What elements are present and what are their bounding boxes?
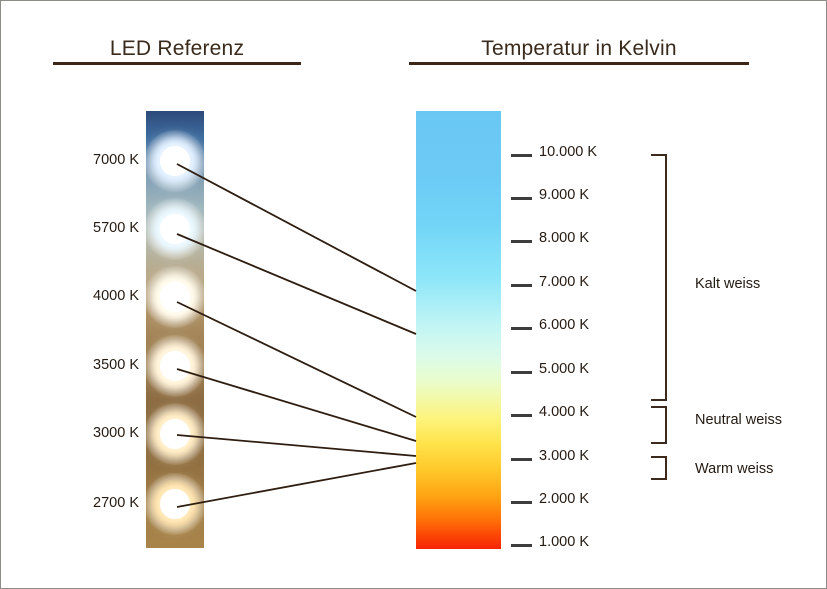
- scale-tick: [511, 371, 532, 374]
- led-core: [160, 489, 190, 519]
- led-core: [160, 351, 190, 381]
- led-lamp: [146, 266, 204, 328]
- scale-tick-label: 6.000 K: [539, 317, 589, 333]
- page-title-kelvin: Temperatur in Kelvin: [409, 37, 749, 61]
- led-core: [160, 419, 190, 449]
- connector-line: [177, 164, 416, 291]
- scale-tick-label: 7.000 K: [539, 274, 589, 290]
- title-underline-kelvin: [409, 62, 749, 65]
- led-lamp: [146, 198, 204, 260]
- scale-tick: [511, 154, 532, 157]
- category-bracket: [651, 154, 667, 401]
- connector-line: [177, 234, 416, 334]
- led-kelvin-label: 7000 K: [67, 152, 139, 168]
- connector-line: [177, 302, 416, 417]
- led-kelvin-label: 5700 K: [67, 220, 139, 236]
- led-kelvin-label: 4000 K: [67, 288, 139, 304]
- scale-tick-label: 5.000 K: [539, 361, 589, 377]
- connector-line: [177, 463, 416, 507]
- title-underline-led: [53, 62, 301, 65]
- scale-tick: [511, 197, 532, 200]
- scale-tick-label: 10.000 K: [539, 144, 597, 160]
- scale-tick: [511, 414, 532, 417]
- led-core: [160, 282, 190, 312]
- led-lamp: [146, 130, 204, 192]
- scale-tick: [511, 458, 532, 461]
- color-temperature-figure: LED Referenz Temperatur in Kelvin 7000 K…: [0, 0, 827, 589]
- led-reference-strip: [146, 111, 204, 548]
- scale-tick-label: 4.000 K: [539, 404, 589, 420]
- scale-tick-label: 9.000 K: [539, 187, 589, 203]
- category-bracket: [651, 406, 667, 444]
- led-kelvin-label: 2700 K: [67, 495, 139, 511]
- scale-tick: [511, 240, 532, 243]
- category-label: Kalt weiss: [695, 276, 760, 292]
- led-kelvin-label: 3500 K: [67, 357, 139, 373]
- scale-tick: [511, 501, 532, 504]
- led-kelvin-label: 3000 K: [67, 425, 139, 441]
- category-label: Neutral weiss: [695, 412, 782, 428]
- led-lamp: [146, 335, 204, 397]
- led-core: [160, 146, 190, 176]
- category-label: Warm weiss: [695, 461, 773, 477]
- scale-tick: [511, 544, 532, 547]
- scale-tick-label: 3.000 K: [539, 448, 589, 464]
- kelvin-gradient-bar: [416, 111, 501, 549]
- led-core: [160, 214, 190, 244]
- led-lamp: [146, 403, 204, 465]
- led-lamp: [146, 473, 204, 535]
- category-bracket: [651, 456, 667, 480]
- scale-tick-label: 8.000 K: [539, 230, 589, 246]
- connector-line: [177, 435, 416, 456]
- page-title-led-reference: LED Referenz: [53, 37, 301, 61]
- scale-tick-label: 2.000 K: [539, 491, 589, 507]
- connector-line: [177, 369, 416, 441]
- scale-tick: [511, 284, 532, 287]
- scale-tick-label: 1.000 K: [539, 534, 589, 550]
- scale-tick: [511, 327, 532, 330]
